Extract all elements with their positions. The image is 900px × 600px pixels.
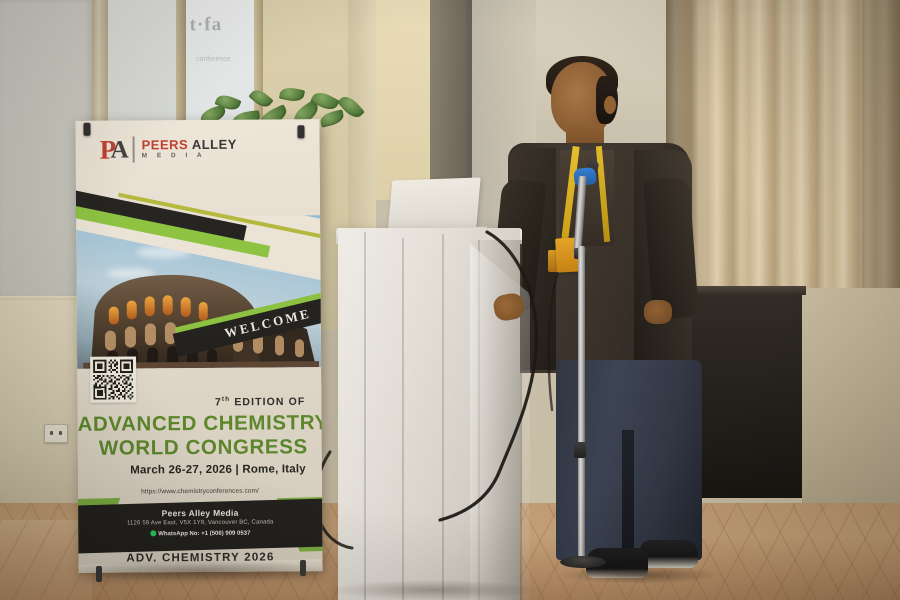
logo-divider: [133, 136, 135, 162]
banner-edition-line: 7th EDITION OF: [77, 395, 305, 409]
whatsapp-text: WhatsApp No: +1 (506) 909 0537: [158, 531, 250, 538]
logo-word-media: M E D I A: [142, 153, 237, 160]
window-etched-text: t·fa: [189, 13, 252, 74]
edition-suffix: EDITION OF: [234, 396, 305, 408]
podium-floor-shadow: [330, 580, 540, 600]
wall-outlet-icon: [44, 424, 68, 443]
mic-stand-base: [560, 556, 606, 568]
banner-clip-right: [297, 125, 304, 138]
banner-foot-right: [300, 560, 306, 576]
logo-word-alley: ALLEY: [192, 137, 237, 152]
mic-stand-lower-collar: [574, 442, 586, 458]
logo-wordmark: PEERS ALLEY M E D I A: [142, 138, 237, 160]
banner-title-line2: WORLD CONGRESS: [78, 435, 308, 461]
speaker-hand-right: [644, 300, 672, 324]
roll-up-banner: PA PEERS ALLEY M E D I A: [75, 119, 322, 573]
banner-floor-shadow: [70, 560, 330, 582]
speaker-arm-right: [643, 177, 699, 320]
banner-logo: PA PEERS ALLEY M E D I A: [100, 136, 238, 163]
window-etched-subtext: conference: [196, 56, 254, 63]
banner-title-line1: ADVANCED CHEMISTRY: [77, 411, 307, 437]
speaker-leg-separation: [622, 430, 634, 565]
organizer-name: Peers Alley Media: [78, 507, 322, 519]
banner-website-url: https://www.chemistryconferences.com/: [78, 487, 322, 496]
right-wall: [802, 288, 900, 503]
qr-code-icon: [93, 359, 133, 399]
speaker-floor-shadow: [560, 566, 720, 584]
edition-ordinal: th: [222, 396, 230, 403]
logo-word-peers: PEERS: [142, 137, 189, 152]
speaker-shoe-right: [640, 540, 698, 568]
banner-date-location: March 26-27, 2026 | Rome, Italy: [78, 463, 306, 477]
speaker-ear: [604, 96, 616, 114]
conference-photo-scene: t·fa conference: [0, 0, 900, 600]
peers-alley-monogram-icon: PA: [100, 137, 126, 163]
whatsapp-icon: [150, 530, 156, 536]
banner-foot-left: [96, 566, 102, 582]
banner-clip-left: [83, 123, 90, 136]
mic-stand-pole: [578, 246, 585, 564]
